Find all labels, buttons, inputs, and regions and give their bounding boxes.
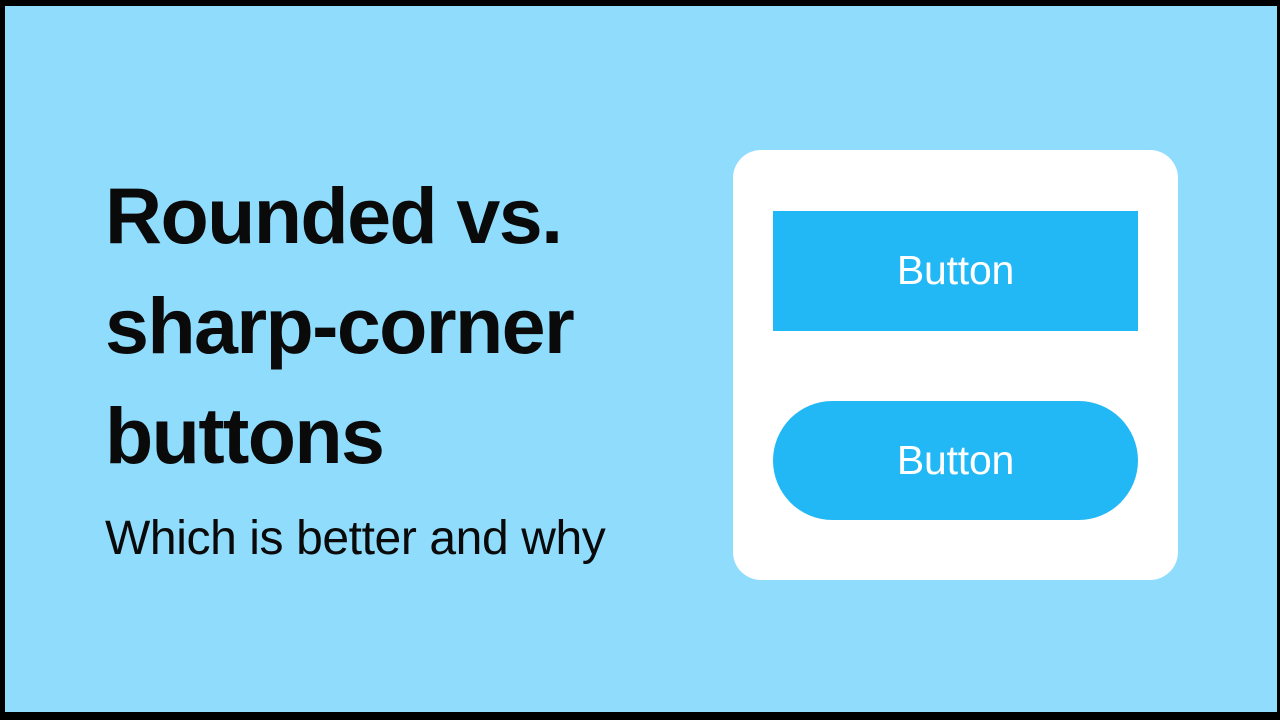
page-title: Rounded vs. sharp-corner buttons — [105, 161, 685, 491]
slide-frame: Rounded vs. sharp-corner buttons Which i… — [0, 0, 1280, 720]
slide-canvas: Rounded vs. sharp-corner buttons Which i… — [5, 6, 1277, 712]
sharp-corner-button[interactable]: Button — [773, 211, 1138, 331]
rounded-corner-button[interactable]: Button — [773, 401, 1138, 520]
title-block: Rounded vs. sharp-corner buttons Which i… — [105, 161, 685, 568]
button-demo-card: Button Button — [733, 150, 1178, 580]
page-subtitle: Which is better and why — [105, 510, 685, 568]
